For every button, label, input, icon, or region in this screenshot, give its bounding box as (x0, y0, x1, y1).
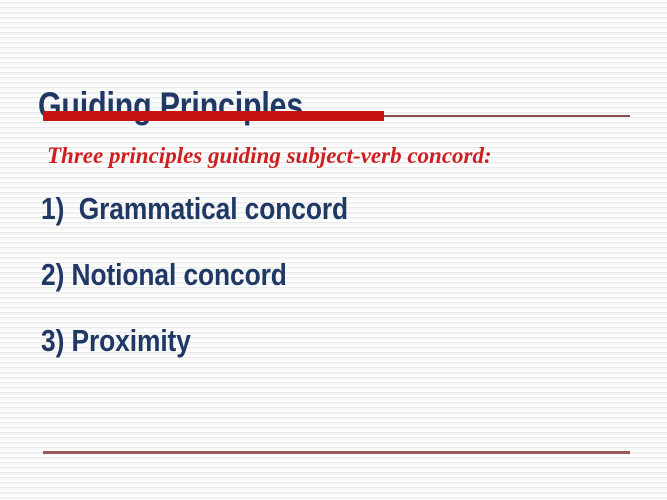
slide-canvas: Guiding Principles Three principles guid… (0, 0, 667, 500)
footer-divider-line (43, 451, 630, 454)
list-item: 3) Proximity (41, 322, 551, 388)
title-divider-accent-bar (43, 111, 384, 121)
list-item: 2) Notional concord (41, 256, 551, 322)
list-item: 1) Grammatical concord (41, 190, 551, 256)
principles-list: 1) Grammatical concord 2) Notional conco… (41, 190, 641, 388)
slide-subtitle: Three principles guiding subject-verb co… (47, 142, 647, 170)
page-title: Guiding Principles (38, 84, 530, 128)
